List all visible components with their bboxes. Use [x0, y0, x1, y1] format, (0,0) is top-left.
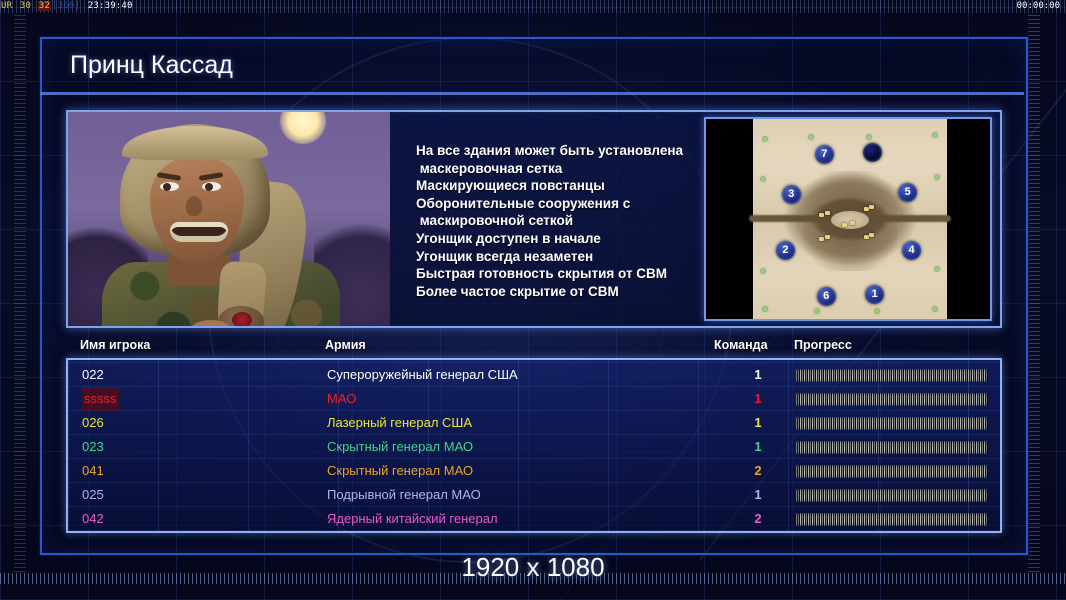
app-screen: UR 30 32[360] 23:39:40 00:00:00 Принц Ка… [0, 0, 1066, 600]
cell-team: 1 [746, 483, 770, 507]
page-title: Принц Кассад [70, 51, 233, 80]
table-row[interactable]: 026Лазерный генерал США1 [68, 411, 1000, 435]
ruler-strip-left [14, 14, 26, 572]
cell-army: Скрытный генерал МАО [327, 435, 473, 459]
portrait-nose [186, 196, 202, 216]
map-oil-derrick [819, 213, 824, 217]
cell-progress-bar [796, 489, 988, 502]
cell-team: 2 [746, 507, 770, 531]
sun-icon [280, 112, 326, 144]
map-resource-node [763, 137, 767, 141]
cell-player-name: 041 [82, 459, 104, 483]
cell-team: 1 [746, 435, 770, 459]
column-header-team: Команда [714, 338, 768, 352]
table-row[interactable]: 042Ядерный китайский генерал2 [68, 507, 1000, 531]
cell-army: Ядерный китайский генерал [327, 507, 498, 531]
cell-progress-bar [796, 441, 988, 454]
map-terrain: 7352461 [753, 119, 947, 319]
map-spawn-marker[interactable] [863, 143, 882, 162]
status-value-1: 30 [19, 1, 32, 11]
table-row[interactable]: sssssМАО1 [68, 387, 1000, 411]
map-spawn-marker[interactable]: 3 [782, 185, 801, 204]
map-spawn-marker[interactable]: 1 [865, 285, 884, 304]
cell-team: 1 [746, 387, 770, 411]
status-label: UR [0, 1, 13, 11]
portrait-lamp-glow [232, 312, 252, 326]
cell-army: Скрытный генерал МАО [327, 459, 473, 483]
table-row[interactable]: 041Скрытный генерал МАО2 [68, 459, 1000, 483]
map-resource-node [933, 133, 937, 137]
column-header-player-name: Имя игрока [80, 338, 150, 352]
map-spawn-marker[interactable]: 7 [815, 145, 834, 164]
map-oil-derrick [869, 233, 874, 237]
cell-player-name: sssss [82, 387, 119, 411]
map-spawn-marker[interactable]: 2 [776, 241, 795, 260]
column-header-army: Армия [325, 338, 366, 352]
status-value-2: 32 [38, 1, 51, 11]
map-spawn-marker[interactable]: 6 [817, 287, 836, 306]
map-oil-derrick [864, 207, 869, 211]
cell-player-name: 026 [82, 411, 104, 435]
cell-progress-bar [796, 393, 988, 406]
map-spawn-marker[interactable]: 4 [902, 241, 921, 260]
cell-player-name: 022 [82, 363, 104, 387]
cell-army: Подрывной генерал МАО [327, 483, 481, 507]
cell-team: 1 [746, 363, 770, 387]
general-portrait [68, 112, 390, 326]
game-clock: 00:00:00 [1017, 0, 1060, 13]
table-row[interactable]: 025Подрывной генерал МАО1 [68, 483, 1000, 507]
map-oil-derrick [825, 211, 830, 215]
map-oil-derrick [842, 223, 847, 227]
status-time: 23:39:40 [87, 1, 134, 11]
map-oil-derrick [850, 221, 855, 225]
table-row[interactable]: 022Супероружейный генерал США1 [68, 363, 1000, 387]
cell-army: МАО [327, 387, 356, 411]
cell-army: Лазерный генерал США [327, 411, 472, 435]
map-resource-node [875, 309, 879, 313]
portrait-headband [122, 126, 268, 160]
cell-player-name: 023 [82, 435, 104, 459]
map-resource-node [809, 135, 813, 139]
map-resource-node [763, 307, 767, 311]
cell-player-name: 025 [82, 483, 104, 507]
cell-progress-bar [796, 465, 988, 478]
portrait-pupil-left [163, 183, 171, 191]
map-resource-node [761, 269, 765, 273]
cell-player-name: 042 [82, 507, 104, 531]
map-oil-derrick [869, 205, 874, 209]
portrait-mouth [170, 222, 228, 242]
status-bracket: [360] [51, 1, 81, 11]
cell-progress-bar [796, 513, 988, 526]
cell-army: Супероружейный генерал США [327, 363, 518, 387]
cell-progress-bar [796, 417, 988, 430]
table-row[interactable]: 023Скрытный генерал МАО1 [68, 435, 1000, 459]
cell-progress-bar [796, 369, 988, 382]
map-oil-derrick [819, 237, 824, 241]
table-header-row: Имя игрока Армия Команда Прогресс [66, 338, 1002, 356]
map-preview[interactable]: 7352461 [704, 117, 992, 321]
map-resource-node [933, 307, 937, 311]
cell-team: 1 [746, 411, 770, 435]
resolution-label: 1920 x 1080 [0, 552, 1066, 583]
map-spawn-marker[interactable]: 5 [898, 183, 917, 202]
map-resource-node [935, 267, 939, 271]
column-header-progress: Прогресс [794, 338, 852, 352]
map-oil-derrick [825, 235, 830, 239]
map-center-clearing [831, 211, 870, 229]
map-resource-node [867, 135, 871, 139]
ruler-strip-right [1028, 14, 1040, 572]
general-info-panel: На все здания может быть установлена мас… [66, 110, 1002, 328]
map-resource-node [761, 177, 765, 181]
cell-team: 2 [746, 459, 770, 483]
player-table: 022Супероружейный генерал США1sssssМАО10… [66, 358, 1002, 533]
status-bar: UR 30 32[360] 23:39:40 [0, 0, 1066, 13]
map-resource-node [935, 175, 939, 179]
title-bar: Принц Кассад [40, 39, 1024, 94]
map-resource-node [815, 309, 819, 313]
map-oil-derrick [864, 235, 869, 239]
portrait-pupil-right [205, 183, 213, 191]
